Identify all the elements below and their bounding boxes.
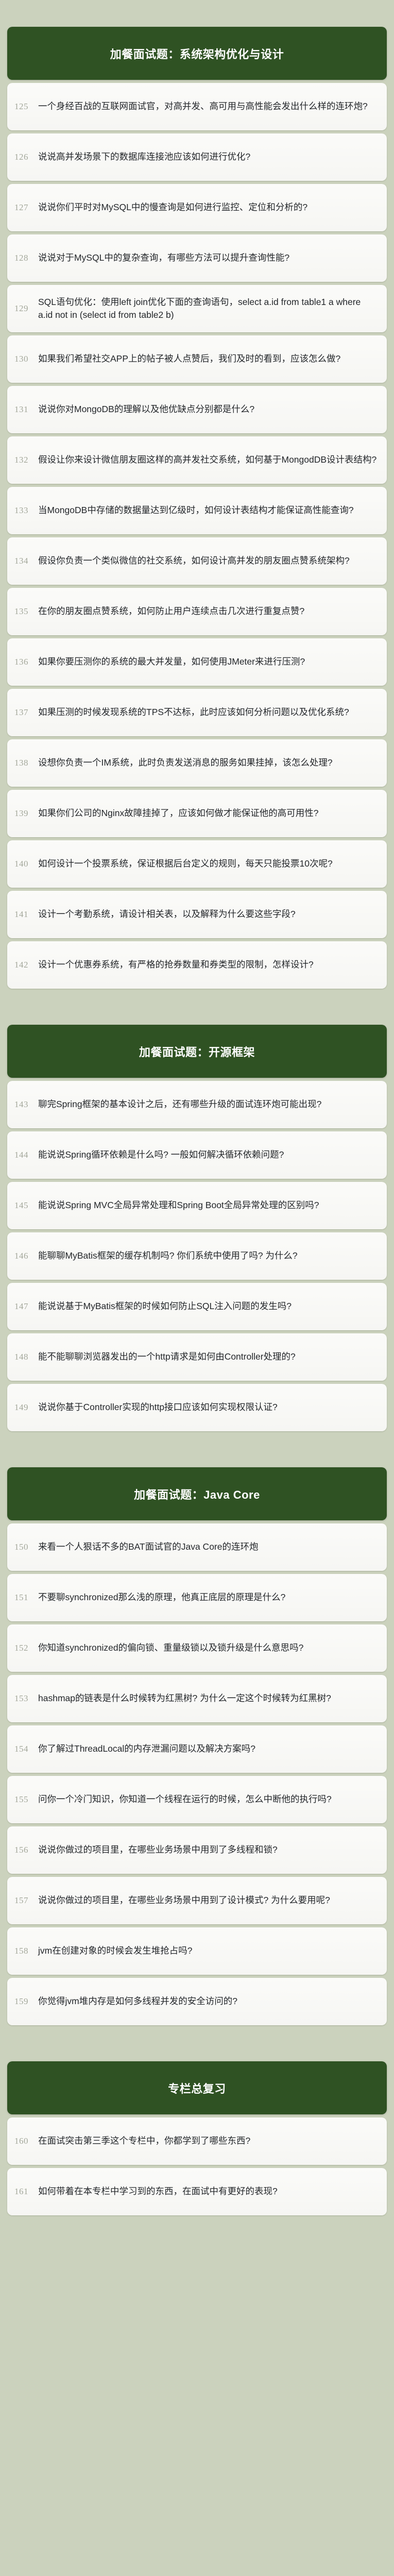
question-text: 能说说基于MyBatis框架的时候如何防止SQL注入问题的发生吗? (38, 1300, 378, 1313)
question-card-128[interactable]: 128 说说对于MySQL中的复杂查询，有哪些方法可以提升查询性能? (7, 234, 387, 282)
question-number: 158 (14, 1946, 38, 1956)
question-card-141[interactable]: 141 设计一个考勤系统，请设计相关表，以及解释为什么要这些字段? (7, 891, 387, 938)
question-number: 128 (14, 253, 38, 263)
sections-container: 加餐面试题：系统架构优化与设计 125 一个身经百战的互联网面试官，对高并发、高… (5, 0, 389, 2215)
question-text: 说说你们平时对MySQL中的慢查询是如何进行监控、定位和分析的? (38, 201, 378, 214)
question-number: 140 (14, 859, 38, 869)
question-card-150[interactable]: 150 来看一个人狠话不多的BAT面试官的Java Core的连环炮 (7, 1523, 387, 1571)
question-number: 125 (14, 101, 38, 112)
section-title: 加餐面试题：开源框架 (139, 1043, 255, 1060)
section-title: 加餐面试题：系统架构优化与设计 (110, 45, 284, 62)
question-text: 聊完Spring框架的基本设计之后，还有哪些升级的面试连环炮可能出现? (38, 1098, 378, 1111)
question-number: 127 (14, 202, 38, 213)
question-number: 132 (14, 455, 38, 465)
section-question-list: 150 来看一个人狠话不多的BAT面试官的Java Core的连环炮 151 不… (5, 1523, 389, 2025)
question-card-156[interactable]: 156 说说你做过的项目里，在哪些业务场景中用到了多线程和锁? (7, 1826, 387, 1874)
question-section-1: 加餐面试题：系统架构优化与设计 125 一个身经百战的互联网面试官，对高并发、高… (5, 0, 389, 989)
question-text: 说说你做过的项目里，在哪些业务场景中用到了多线程和锁? (38, 1843, 378, 1856)
question-text: 说说高并发场景下的数据库连接池应该如何进行优化? (38, 150, 378, 163)
question-card-157[interactable]: 157 说说你做过的项目里，在哪些业务场景中用到了设计模式? 为什么要用呢? (7, 1877, 387, 1924)
question-card-147[interactable]: 147 能说说基于MyBatis框架的时候如何防止SQL注入问题的发生吗? (7, 1283, 387, 1330)
question-card-135[interactable]: 135 在你的朋友圈点赞系统，如何防止用户连续点击几次进行重复点赞? (7, 588, 387, 635)
question-text: 说说你基于Controller实现的http接口应该如何实现权限认证? (38, 1401, 378, 1414)
section-title: 专栏总复习 (168, 2080, 226, 2096)
question-card-148[interactable]: 148 能不能聊聊浏览器发出的一个http请求是如何由Controller处理的… (7, 1333, 387, 1381)
question-text: 你了解过ThreadLocal的内存泄漏问题以及解决方案吗? (38, 1742, 378, 1755)
question-number: 161 (14, 2187, 38, 2197)
section-header-1[interactable]: 加餐面试题：系统架构优化与设计 (7, 27, 387, 80)
question-section-3: 加餐面试题：Java Core 150 来看一个人狠话不多的BAT面试官的Jav… (5, 1434, 389, 2025)
question-number: 154 (14, 1744, 38, 1754)
question-number: 126 (14, 152, 38, 162)
question-text: 假设让你来设计微信朋友圈这样的高并发社交系统，如何基于MongodDB设计表结构… (38, 453, 378, 466)
question-number: 146 (14, 1251, 38, 1261)
question-number: 141 (14, 909, 38, 920)
question-card-152[interactable]: 152 你知道synchronized的偏向锁、重量级锁以及锁升级是什么意思吗? (7, 1624, 387, 1672)
question-number: 136 (14, 657, 38, 667)
section-question-list: 143 聊完Spring框架的基本设计之后，还有哪些升级的面试连环炮可能出现? … (5, 1081, 389, 1431)
question-text: 设计一个考勤系统，请设计相关表，以及解释为什么要这些字段? (38, 908, 378, 921)
question-number: 135 (14, 606, 38, 617)
question-number: 134 (14, 556, 38, 566)
question-card-144[interactable]: 144 能说说Spring循环依赖是什么吗? 一般如何解决循环依赖问题? (7, 1131, 387, 1179)
question-card-146[interactable]: 146 能聊聊MyBatis框架的缓存机制吗? 你们系统中使用了吗? 为什么? (7, 1232, 387, 1280)
question-text: 如何设计一个投票系统，保证根据后台定义的规则，每天只能投票10次呢? (38, 857, 378, 870)
question-card-129[interactable]: 129 SQL语句优化：使用left join优化下面的查询语句，select … (7, 285, 387, 332)
question-text: 如果我们希望社交APP上的帖子被人点赞后，我们及时的看到，应该怎么做? (38, 352, 378, 365)
question-card-155[interactable]: 155 问你一个冷门知识，你知道一个线程在运行的时候，怎么中断他的执行吗? (7, 1776, 387, 1823)
question-card-131[interactable]: 131 说说你对MongoDB的理解以及他优缺点分别都是什么? (7, 386, 387, 433)
question-card-134[interactable]: 134 假设你负责一个类似微信的社交系统，如何设计高并发的朋友圈点赞系统架构? (7, 537, 387, 585)
question-text: jvm在创建对象的时候会发生堆抢占吗? (38, 1944, 378, 1957)
question-card-142[interactable]: 142 设计一个优惠券系统，有严格的抢券数量和券类型的限制，怎样设计? (7, 941, 387, 989)
page-bottom-spacer (5, 2218, 389, 2321)
question-card-133[interactable]: 133 当MongoDB中存储的数据量达到亿级时，如何设计表结构才能保证高性能查… (7, 487, 387, 534)
section-header-4[interactable]: 专栏总复习 (7, 2061, 387, 2114)
question-text: 说说你做过的项目里，在哪些业务场景中用到了设计模式? 为什么要用呢? (38, 1894, 378, 1907)
question-card-160[interactable]: 160 在面试突击第三季这个专栏中，你都学到了哪些东西? (7, 2117, 387, 2165)
question-number: 153 (14, 1693, 38, 1704)
question-card-145[interactable]: 145 能说说Spring MVC全局异常处理和Spring Boot全局异常处… (7, 1182, 387, 1229)
question-number: 150 (14, 1542, 38, 1552)
question-number: 147 (14, 1301, 38, 1312)
question-number: 144 (14, 1150, 38, 1160)
question-number: 143 (14, 1099, 38, 1110)
question-number: 133 (14, 505, 38, 516)
question-number: 157 (14, 1895, 38, 1906)
question-number: 137 (14, 707, 38, 718)
section-question-list: 125 一个身经百战的互联网面试官，对高并发、高可用与高性能会发出什么样的连环炮… (5, 83, 389, 989)
question-text: 不要聊synchronized那么浅的原理，他真正底层的原理是什么? (38, 1591, 378, 1604)
question-number: 129 (14, 303, 38, 314)
question-card-143[interactable]: 143 聊完Spring框架的基本设计之后，还有哪些升级的面试连环炮可能出现? (7, 1081, 387, 1128)
question-text: 如果压测的时候发现系统的TPS不达标，此时应该如何分析问题以及优化系统? (38, 706, 378, 719)
section-header-2[interactable]: 加餐面试题：开源框架 (7, 1025, 387, 1078)
question-card-137[interactable]: 137 如果压测的时候发现系统的TPS不达标，此时应该如何分析问题以及优化系统? (7, 689, 387, 736)
question-text: 假设你负责一个类似微信的社交系统，如何设计高并发的朋友圈点赞系统架构? (38, 554, 378, 567)
question-number: 156 (14, 1845, 38, 1855)
question-number: 159 (14, 1996, 38, 2007)
question-text: 说说你对MongoDB的理解以及他优缺点分别都是什么? (38, 403, 378, 416)
question-card-154[interactable]: 154 你了解过ThreadLocal的内存泄漏问题以及解决方案吗? (7, 1725, 387, 1773)
section-top-spacer (5, 0, 389, 27)
section-top-spacer (5, 2028, 389, 2061)
question-text: 当MongoDB中存储的数据量达到亿级时，如何设计表结构才能保证高性能查询? (38, 504, 378, 517)
question-text: 如果你们公司的Nginx故障挂掉了，应该如何做才能保证他的高可用性? (38, 807, 378, 820)
question-card-149[interactable]: 149 说说你基于Controller实现的http接口应该如何实现权限认证? (7, 1384, 387, 1431)
section-question-list: 160 在面试突击第三季这个专栏中，你都学到了哪些东西? 161 如何带着在本专… (5, 2117, 389, 2215)
question-card-153[interactable]: 153 hashmap的链表是什么时候转为红黑树? 为什么一定这个时候转为红黑树… (7, 1675, 387, 1722)
question-card-130[interactable]: 130 如果我们希望社交APP上的帖子被人点赞后，我们及时的看到，应该怎么做? (7, 335, 387, 383)
question-card-159[interactable]: 159 你觉得jvm堆内存是如何多线程并发的安全访问的? (7, 1978, 387, 2025)
question-section-4: 专栏总复习 160 在面试突击第三季这个专栏中，你都学到了哪些东西? 161 如… (5, 2028, 389, 2215)
question-text: 在面试突击第三季这个专栏中，你都学到了哪些东西? (38, 2134, 378, 2147)
question-text: 设计一个优惠券系统，有严格的抢券数量和券类型的限制，怎样设计? (38, 958, 378, 971)
question-number: 139 (14, 808, 38, 819)
question-text: 设想你负责一个IM系统，此时负责发送消息的服务如果挂掉，该怎么处理? (38, 756, 378, 769)
question-card-140[interactable]: 140 如何设计一个投票系统，保证根据后台定义的规则，每天只能投票10次呢? (7, 840, 387, 888)
question-list-page: 加餐面试题：系统架构优化与设计 125 一个身经百战的互联网面试官，对高并发、高… (0, 0, 394, 2576)
question-card-139[interactable]: 139 如果你们公司的Nginx故障挂掉了，应该如何做才能保证他的高可用性? (7, 790, 387, 837)
question-card-138[interactable]: 138 设想你负责一个IM系统，此时负责发送消息的服务如果挂掉，该怎么处理? (7, 739, 387, 787)
question-text: 能说说Spring循环依赖是什么吗? 一般如何解决循环依赖问题? (38, 1148, 378, 1161)
question-card-151[interactable]: 151 不要聊synchronized那么浅的原理，他真正底层的原理是什么? (7, 1574, 387, 1621)
question-text: 问你一个冷门知识，你知道一个线程在运行的时候，怎么中断他的执行吗? (38, 1793, 378, 1806)
section-top-spacer (5, 1434, 389, 1467)
question-number: 160 (14, 2136, 38, 2146)
question-card-127[interactable]: 127 说说你们平时对MySQL中的慢查询是如何进行监控、定位和分析的? (7, 184, 387, 231)
question-text: hashmap的链表是什么时候转为红黑树? 为什么一定这个时候转为红黑树? (38, 1692, 378, 1705)
question-number: 148 (14, 1352, 38, 1362)
question-number: 138 (14, 758, 38, 768)
question-number: 155 (14, 1794, 38, 1805)
question-number: 130 (14, 354, 38, 364)
question-text: 如何带着在本专栏中学习到的东西，在面试中有更好的表现? (38, 2185, 378, 2198)
question-text: 来看一个人狠话不多的BAT面试官的Java Core的连环炮 (38, 1540, 378, 1553)
section-top-spacer (5, 992, 389, 1025)
question-text: 说说对于MySQL中的复杂查询，有哪些方法可以提升查询性能? (38, 251, 378, 264)
question-text: 在你的朋友圈点赞系统，如何防止用户连续点击几次进行重复点赞? (38, 605, 378, 618)
section-header-3[interactable]: 加餐面试题：Java Core (7, 1467, 387, 1520)
question-number: 131 (14, 404, 38, 415)
question-card-126[interactable]: 126 说说高并发场景下的数据库连接池应该如何进行优化? (7, 133, 387, 181)
question-text: 你知道synchronized的偏向锁、重量级锁以及锁升级是什么意思吗? (38, 1641, 378, 1654)
question-section-2: 加餐面试题：开源框架 143 聊完Spring框架的基本设计之后，还有哪些升级的… (5, 992, 389, 1431)
question-card-125[interactable]: 125 一个身经百战的互联网面试官，对高并发、高可用与高性能会发出什么样的连环炮… (7, 83, 387, 130)
question-text: 一个身经百战的互联网面试官，对高并发、高可用与高性能会发出什么样的连环炮? (38, 100, 378, 113)
question-text: 你觉得jvm堆内存是如何多线程并发的安全访问的? (38, 1995, 378, 2008)
question-card-161[interactable]: 161 如何带着在本专栏中学习到的东西，在面试中有更好的表现? (7, 2168, 387, 2215)
question-text: 如果你要压测你的系统的最大并发量，如何使用JMeter来进行压测? (38, 655, 378, 668)
question-card-136[interactable]: 136 如果你要压测你的系统的最大并发量，如何使用JMeter来进行压测? (7, 638, 387, 686)
question-number: 151 (14, 1592, 38, 1603)
question-text: SQL语句优化：使用left join优化下面的查询语句，select a.id… (38, 296, 378, 322)
question-number: 149 (14, 1402, 38, 1413)
question-text: 能说说Spring MVC全局异常处理和Spring Boot全局异常处理的区别… (38, 1199, 378, 1212)
question-number: 142 (14, 960, 38, 970)
question-text: 能不能聊聊浏览器发出的一个http请求是如何由Controller处理的? (38, 1350, 378, 1363)
question-card-132[interactable]: 132 假设让你来设计微信朋友圈这样的高并发社交系统，如何基于MongodDB设… (7, 436, 387, 484)
section-title: 加餐面试题：Java Core (134, 1486, 260, 1502)
question-card-158[interactable]: 158 jvm在创建对象的时候会发生堆抢占吗? (7, 1927, 387, 1975)
question-text: 能聊聊MyBatis框架的缓存机制吗? 你们系统中使用了吗? 为什么? (38, 1249, 378, 1262)
question-number: 145 (14, 1200, 38, 1211)
question-number: 152 (14, 1643, 38, 1653)
